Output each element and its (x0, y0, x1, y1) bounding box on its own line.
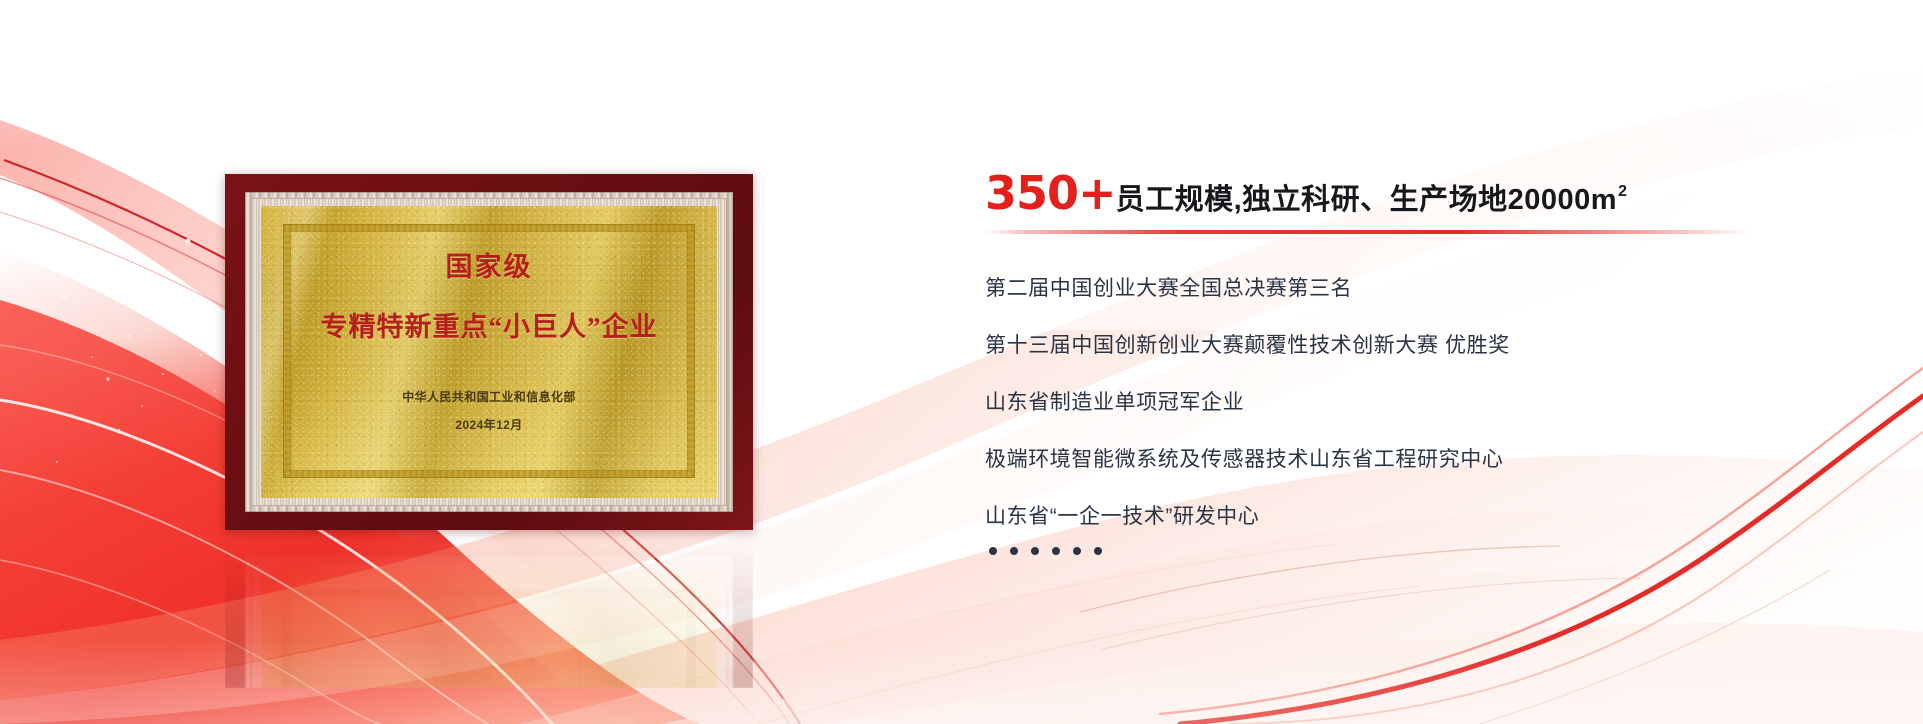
honor-list: 第二届中国创业大赛全国总决赛第三名 第十三届中国创新创业大赛颠覆性技术创新大赛 … (985, 278, 1865, 527)
plaque-title-line-2: 专精特新重点“小巨人”企业 (321, 305, 658, 344)
list-item: 山东省制造业单项冠军企业 (985, 392, 1865, 413)
ellipsis-dot (1094, 547, 1102, 555)
headline-text: 员工规模,独立科研、生产场地20000m (1116, 186, 1618, 215)
headline-underline (985, 230, 1750, 234)
ellipsis-dot (989, 547, 997, 555)
ellipsis-dot (1052, 547, 1060, 555)
list-item: 极端环境智能微系统及传感器技术山东省工程研究中心 (985, 449, 1865, 470)
ellipsis-dot (1073, 547, 1081, 555)
headline-number: 350+ (985, 170, 1116, 216)
headline: 350+ 员工规模,独立科研、生产场地20000m 2 (985, 170, 1865, 216)
ellipsis-dot (1010, 547, 1018, 555)
list-item: 第十三届中国创新创业大赛颠覆性技术创新大赛 优胜奖 (985, 335, 1865, 356)
honors-banner: 国家级 专精特新重点“小巨人”企业 中华人民共和国工业和信息化部 2024年12… (0, 0, 1923, 724)
content-column: 350+ 员工规模,独立科研、生产场地20000m 2 第二届中国创业大赛全国总… (985, 170, 1865, 555)
list-item: 山东省“一企一技术”研发中心 (985, 506, 1865, 527)
award-plaque: 国家级 专精特新重点“小巨人”企业 中华人民共和国工业和信息化部 2024年12… (225, 174, 753, 530)
sparkle-specks (56, 239, 239, 464)
ellipsis-dot (1031, 547, 1039, 555)
list-item: 第二届中国创业大赛全国总决赛第三名 (985, 278, 1865, 299)
ellipsis-dots (985, 547, 1865, 555)
plaque-frame: 国家级 专精特新重点“小巨人”企业 中华人民共和国工业和信息化部 2024年12… (225, 174, 753, 530)
plaque-gold-plate: 国家级 专精特新重点“小巨人”企业 中华人民共和国工业和信息化部 2024年12… (261, 206, 717, 498)
plaque-title-line-1: 国家级 (446, 253, 533, 283)
plaque-issuer: 中华人民共和国工业和信息化部 (402, 388, 576, 405)
plaque-reflection (225, 538, 753, 688)
thin-guide-curves (620, 544, 1830, 724)
plaque-date: 2024年12月 (455, 416, 522, 433)
headline-superscript: 2 (1618, 183, 1627, 201)
